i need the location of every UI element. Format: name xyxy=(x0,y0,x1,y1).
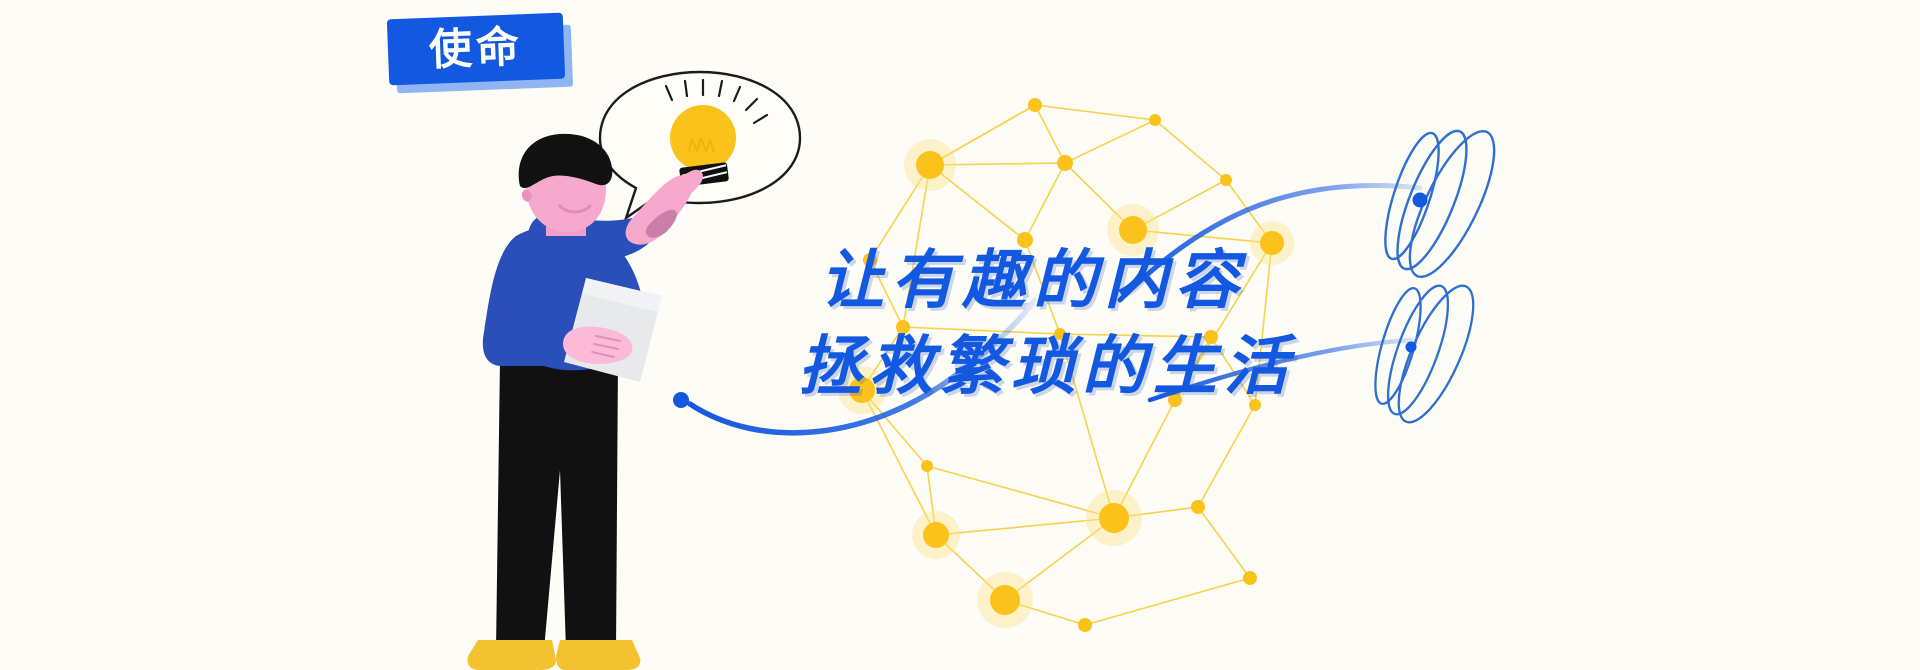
network-edge xyxy=(862,390,936,535)
network-node xyxy=(1078,618,1092,632)
network-edge xyxy=(927,466,1114,518)
network-edge xyxy=(1085,578,1250,625)
badge-label: 使命 xyxy=(428,26,524,73)
network-edge xyxy=(1035,105,1065,163)
network-node xyxy=(1057,155,1073,171)
network-edge xyxy=(1005,600,1085,625)
network-node xyxy=(1220,174,1232,186)
network-edge xyxy=(1114,507,1198,518)
mission-badge: 使命 xyxy=(388,10,578,102)
shoe-right xyxy=(556,640,640,670)
badge-plate: 使命 xyxy=(387,13,565,86)
network-node xyxy=(923,522,949,548)
network-node-glow xyxy=(904,139,956,191)
network-edge xyxy=(1005,518,1114,600)
shirt-body xyxy=(483,226,648,366)
network-edge xyxy=(1198,405,1255,507)
network-node xyxy=(921,460,933,472)
tablet xyxy=(564,278,662,382)
network-node xyxy=(916,151,944,179)
network-edge xyxy=(1133,180,1226,230)
network-edge xyxy=(1155,120,1226,180)
network-node-glow xyxy=(977,572,1033,628)
network-edge xyxy=(930,165,1025,240)
network-edge xyxy=(1226,180,1272,243)
network-edge xyxy=(930,105,1035,165)
network-edge xyxy=(1065,120,1155,163)
shirt-collar xyxy=(548,220,588,252)
network-edge xyxy=(1114,400,1175,518)
bulb-base-icon xyxy=(679,162,729,187)
headline-line-2: 拯救繁琐的生活 xyxy=(798,324,1540,410)
network-edge xyxy=(1198,507,1250,578)
idea-bubble xyxy=(572,72,800,246)
network-node-glow xyxy=(912,511,960,559)
coil-top-right-dot xyxy=(1413,193,1428,208)
headline: 让有趣的内容 拯救繁琐的生活 xyxy=(820,238,1540,410)
network-edge xyxy=(1065,163,1133,230)
hand-holding-tablet xyxy=(563,327,632,364)
lightbulb-icon xyxy=(670,105,736,171)
network-edge xyxy=(1025,163,1065,240)
network-edge xyxy=(936,518,1114,535)
network-edge xyxy=(936,535,1005,600)
network-node xyxy=(990,585,1020,615)
hand-pointing xyxy=(626,170,703,245)
bulb-rays-icon xyxy=(666,80,767,123)
arm-holding-tablet xyxy=(504,281,611,370)
network-node xyxy=(1243,571,1257,585)
head xyxy=(519,134,613,236)
headline-line-1: 让有趣的内容 xyxy=(820,238,1540,324)
network-node xyxy=(1191,500,1205,514)
bulb-filament-icon xyxy=(689,138,714,152)
trousers xyxy=(496,360,618,650)
network-node xyxy=(1099,503,1129,533)
network-edge xyxy=(930,105,1035,165)
network-edge xyxy=(927,466,936,535)
arm-pointing xyxy=(528,213,658,262)
network-node xyxy=(1149,114,1161,126)
mission-banner: 让有趣的内容 拯救繁琐的生活 使命 xyxy=(0,0,1920,670)
network-edge xyxy=(1035,105,1155,120)
network-node xyxy=(1028,98,1042,112)
shoe-left xyxy=(468,640,557,670)
network-edge xyxy=(930,163,1065,165)
curve-left-tail-dot xyxy=(673,392,689,408)
network-node-glow xyxy=(1086,490,1142,546)
